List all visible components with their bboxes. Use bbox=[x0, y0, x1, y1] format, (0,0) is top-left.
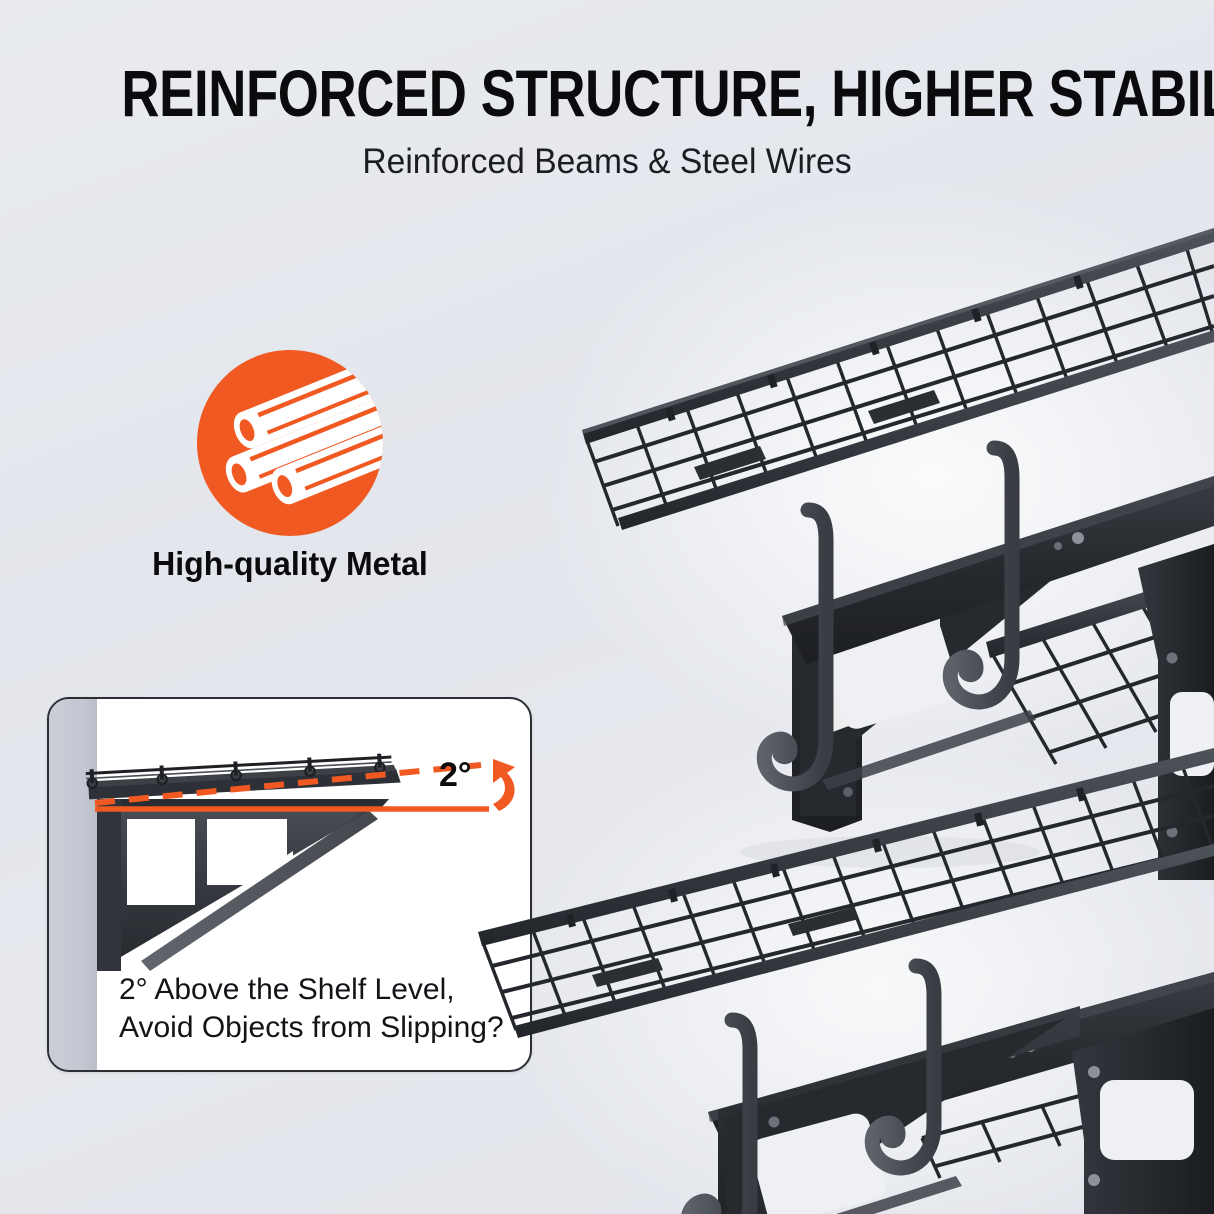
page-subtitle: Reinforced Beams & Steel Wires bbox=[24, 142, 1189, 182]
feature-badge bbox=[197, 350, 383, 536]
upper-bracket-right bbox=[1138, 544, 1214, 880]
feature-badge-label: High-quality Metal bbox=[67, 545, 513, 583]
tilt-caption: 2° Above the Shelf Level, Avoid Objects … bbox=[119, 971, 519, 1048]
product-photo bbox=[470, 180, 1214, 1214]
angle-label: 2° bbox=[439, 756, 472, 795]
bracket-shape bbox=[97, 799, 389, 971]
shelf-deck bbox=[86, 753, 401, 800]
upper-deck-mesh bbox=[586, 236, 1214, 526]
metal-pipes-icon bbox=[197, 350, 383, 536]
marketing-image-root: REINFORCED STRUCTURE, HIGHER STABILITY R… bbox=[0, 0, 1214, 1214]
tilt-explainer-card: 2° 2° Above the Shelf Level, Avoid Objec… bbox=[47, 697, 532, 1072]
page-title: REINFORCED STRUCTURE, HIGHER STABILITY bbox=[121, 60, 1092, 126]
shelf-illustration bbox=[470, 180, 1214, 1214]
badge-circle bbox=[197, 350, 383, 536]
